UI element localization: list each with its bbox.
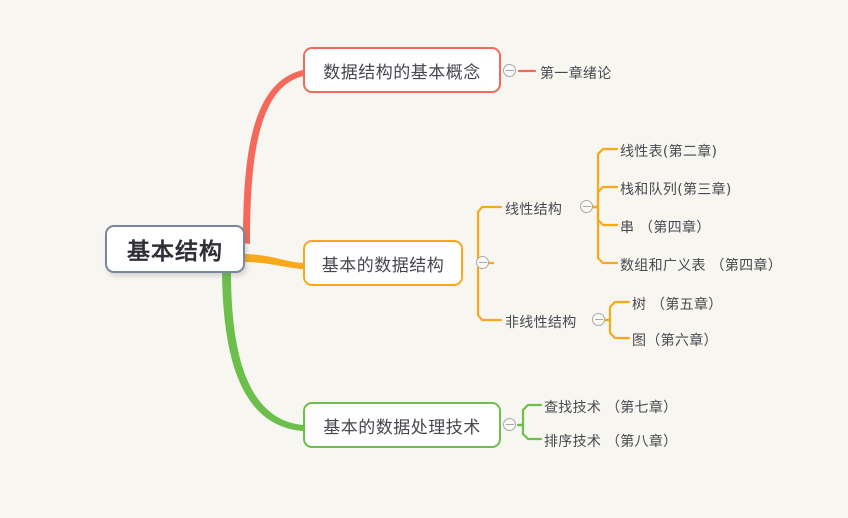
leaf-linear-2-label: 栈和队列(第三章) xyxy=(620,182,732,198)
leaf-linear-4[interactable]: 数组和广义表 （第四章） xyxy=(620,255,782,275)
edge-linear-to-child-1 xyxy=(593,149,617,207)
root-node-label: 基本结构 xyxy=(127,232,223,266)
collapse-toggle-linear-structure[interactable] xyxy=(580,200,593,213)
leaf-linear-3-label: 串 （第四章） xyxy=(620,220,711,236)
edge-structures-to-nonlinear xyxy=(478,263,501,320)
collapse-toggle-processing[interactable] xyxy=(503,418,516,431)
branch-node-concepts-label: 数据结构的基本概念 xyxy=(323,58,481,83)
edge-processing-to-child-2 xyxy=(518,425,541,439)
sublabel-linear-structure[interactable]: 线性结构 xyxy=(505,199,562,219)
edge-linear-to-child-4 xyxy=(593,207,617,263)
edge-linear-to-child-2 xyxy=(593,187,617,207)
sublabel-linear-structure-label: 线性结构 xyxy=(505,202,562,218)
root-node[interactable]: 基本结构 xyxy=(105,225,245,273)
sublabel-nonlinear-structure-label: 非线性结构 xyxy=(505,315,577,331)
leaf-concepts-1[interactable]: 第一章绪论 xyxy=(540,63,612,83)
collapse-toggle-nonlinear-structure[interactable] xyxy=(592,313,605,326)
leaf-processing-1-label: 查找技术 （第七章） xyxy=(544,400,677,416)
leaf-concepts-1-label: 第一章绪论 xyxy=(540,66,612,82)
leaf-linear-3[interactable]: 串 （第四章） xyxy=(620,217,711,237)
edge-processing-to-child-1 xyxy=(518,405,541,425)
branch-node-concepts[interactable]: 数据结构的基本概念 xyxy=(303,47,501,93)
leaf-processing-2-label: 排序技术 （第八章） xyxy=(544,434,677,450)
edge-root-to-structures xyxy=(243,254,303,269)
edge-linear-to-child-3 xyxy=(593,207,617,225)
branch-node-structures[interactable]: 基本的数据结构 xyxy=(303,240,463,286)
leaf-nonlinear-1-label: 树 （第五章） xyxy=(632,297,723,313)
leaf-nonlinear-1[interactable]: 树 （第五章） xyxy=(632,294,723,314)
edge-nonlinear-to-child-2 xyxy=(605,320,629,338)
branch-node-processing[interactable]: 基本的数据处理技术 xyxy=(303,402,501,448)
leaf-linear-1[interactable]: 线性表(第二章) xyxy=(620,141,717,161)
edge-nonlinear-to-child-1 xyxy=(605,302,629,320)
leaf-nonlinear-2-label: 图（第六章） xyxy=(632,333,718,349)
leaf-nonlinear-2[interactable]: 图（第六章） xyxy=(632,330,718,350)
leaf-linear-1-label: 线性表(第二章) xyxy=(620,144,717,160)
edge-root-to-concepts xyxy=(243,70,303,244)
sublabel-nonlinear-structure[interactable]: 非线性结构 xyxy=(505,312,577,332)
leaf-linear-2[interactable]: 栈和队列(第三章) xyxy=(620,179,732,199)
edge-root-to-processing xyxy=(222,272,303,431)
edge-structures-to-linear xyxy=(478,207,501,263)
leaf-processing-1[interactable]: 查找技术 （第七章） xyxy=(544,397,677,417)
collapse-toggle-structures[interactable] xyxy=(476,256,489,269)
branch-node-structures-label: 基本的数据结构 xyxy=(322,251,445,276)
mindmap-canvas[interactable]: 基本结构 数据结构的基本概念 第一章绪论 基本的数据结构 线性结构 线性表(第二… xyxy=(0,0,848,518)
leaf-linear-4-label: 数组和广义表 （第四章） xyxy=(620,258,782,274)
collapse-toggle-concepts[interactable] xyxy=(503,64,516,77)
branch-node-processing-label: 基本的数据处理技术 xyxy=(323,413,481,438)
leaf-processing-2[interactable]: 排序技术 （第八章） xyxy=(544,431,677,451)
